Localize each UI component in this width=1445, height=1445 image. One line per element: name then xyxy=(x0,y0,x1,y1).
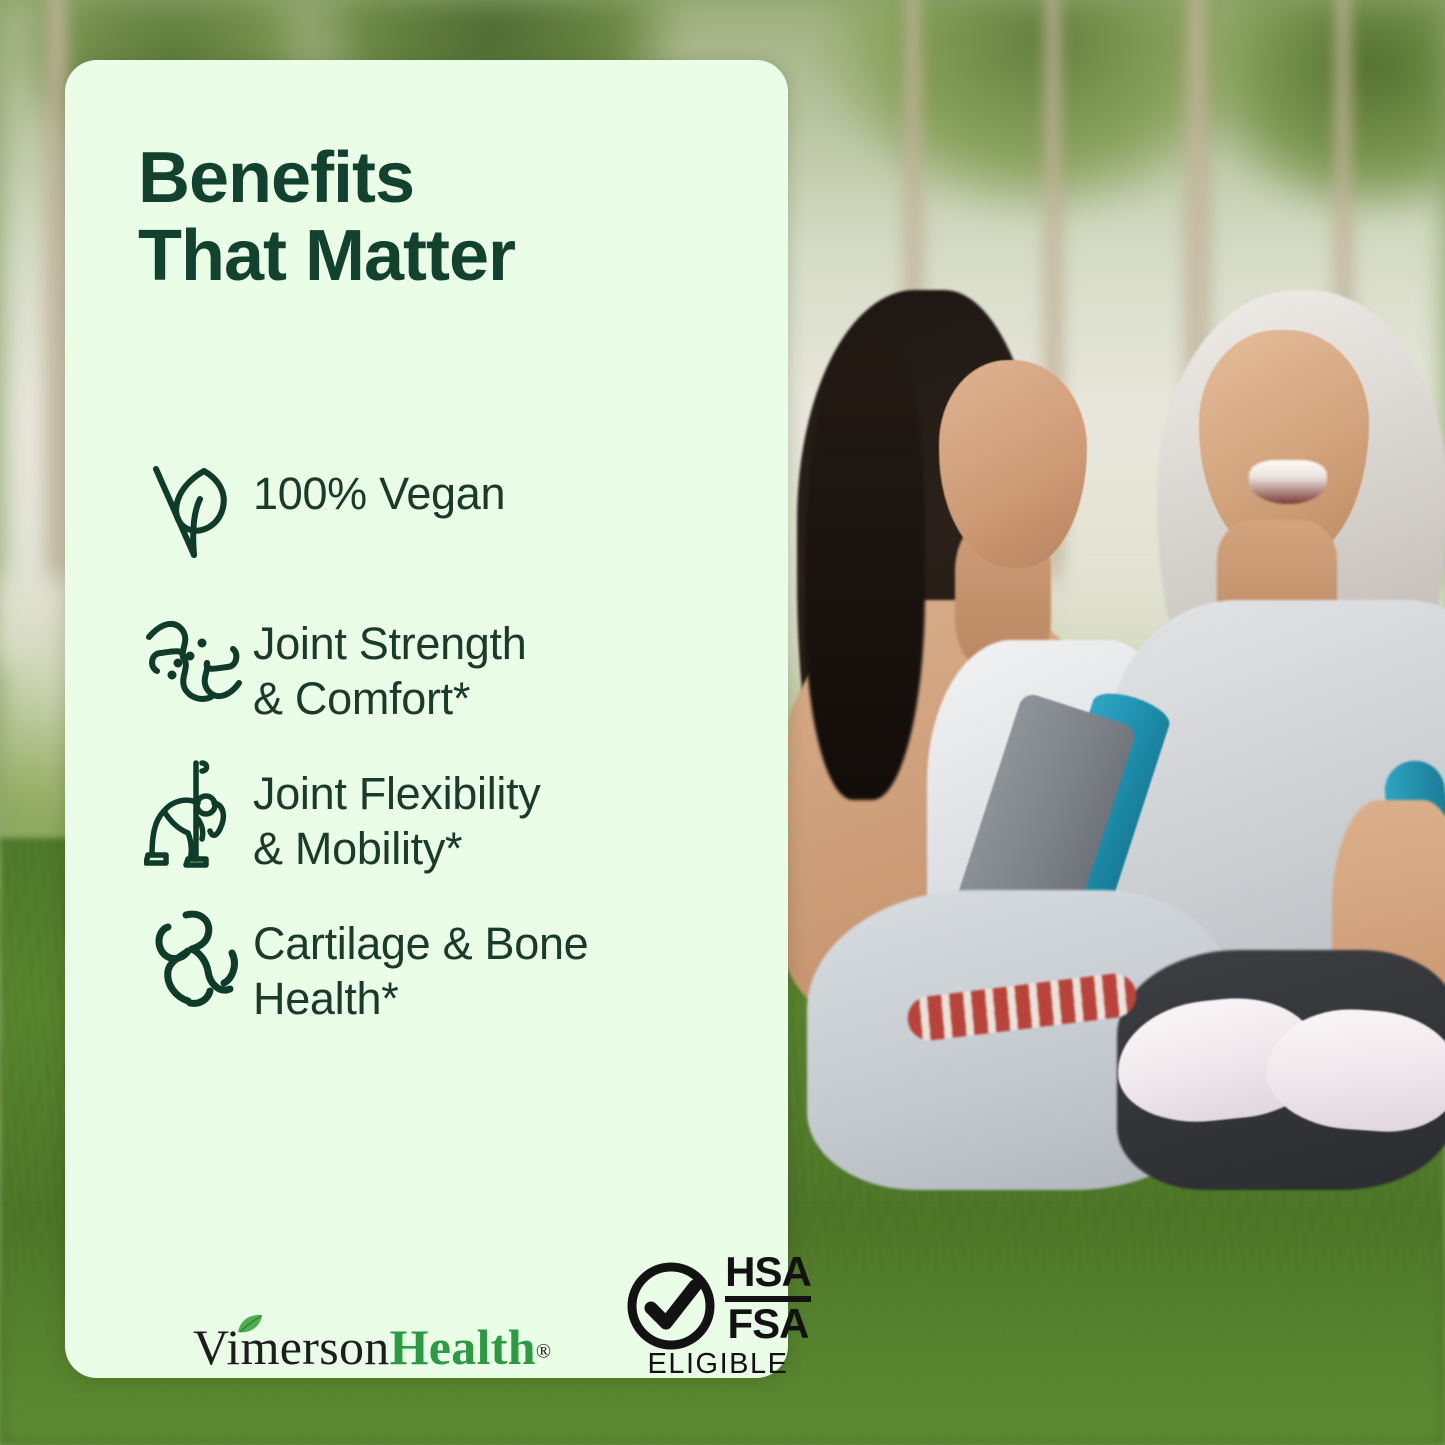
hsa-fsa-eligible-badge: HSA FSA ELIGIBLE xyxy=(625,1252,805,1374)
card-footer: VimersonHealth® HSA FSA ELIGIBLE xyxy=(65,1210,788,1380)
benefit-item-cartilage: Cartilage & BoneHealth* xyxy=(135,905,775,1055)
older-woman-smile xyxy=(1249,460,1327,504)
young-woman-ponytail xyxy=(805,330,925,800)
benefit-item-vegan: 100% Vegan xyxy=(135,455,775,605)
yoga-stretch-icon xyxy=(135,755,253,871)
joint-cartilage-icon xyxy=(135,605,253,707)
page-title-line-2: That Matter xyxy=(138,218,758,296)
benefit-item-joint-strength: Joint Strength& Comfort* xyxy=(135,605,775,755)
hsa-label: HSA xyxy=(725,1252,811,1292)
leaf-vegan-icon xyxy=(135,455,253,563)
fsa-label: FSA xyxy=(725,1304,811,1344)
check-circle-icon xyxy=(625,1260,717,1357)
benefit-item-flexibility: Joint Flexibility& Mobility* xyxy=(135,755,775,905)
page-title: Benefits That Matter xyxy=(138,140,758,296)
hsa-fsa-text: HSA FSA xyxy=(725,1252,811,1345)
photo-people xyxy=(787,0,1445,1445)
product-benefits-banner: Benefits That Matter 100% Vegan xyxy=(0,0,1445,1445)
benefit-label: Joint Strength& Comfort* xyxy=(253,605,526,727)
benefit-label: Cartilage & BoneHealth* xyxy=(253,905,588,1027)
page-title-line-1: Benefits xyxy=(138,140,758,218)
benefits-list: 100% Vegan xyxy=(135,455,775,1055)
benefit-label: 100% Vegan xyxy=(253,455,505,522)
benefits-card: Benefits That Matter 100% Vegan xyxy=(65,60,788,1378)
logo-word-vimerson: Vimerson xyxy=(193,1319,390,1375)
bone-cartilage-icon xyxy=(135,905,253,1009)
eligible-label: ELIGIBLE xyxy=(623,1348,813,1381)
logo-registered-mark: ® xyxy=(536,1341,551,1363)
vimerson-health-logo: VimersonHealth® xyxy=(193,1318,551,1376)
benefit-label: Joint Flexibility& Mobility* xyxy=(253,755,541,877)
logo-word-health: Health xyxy=(390,1319,536,1375)
